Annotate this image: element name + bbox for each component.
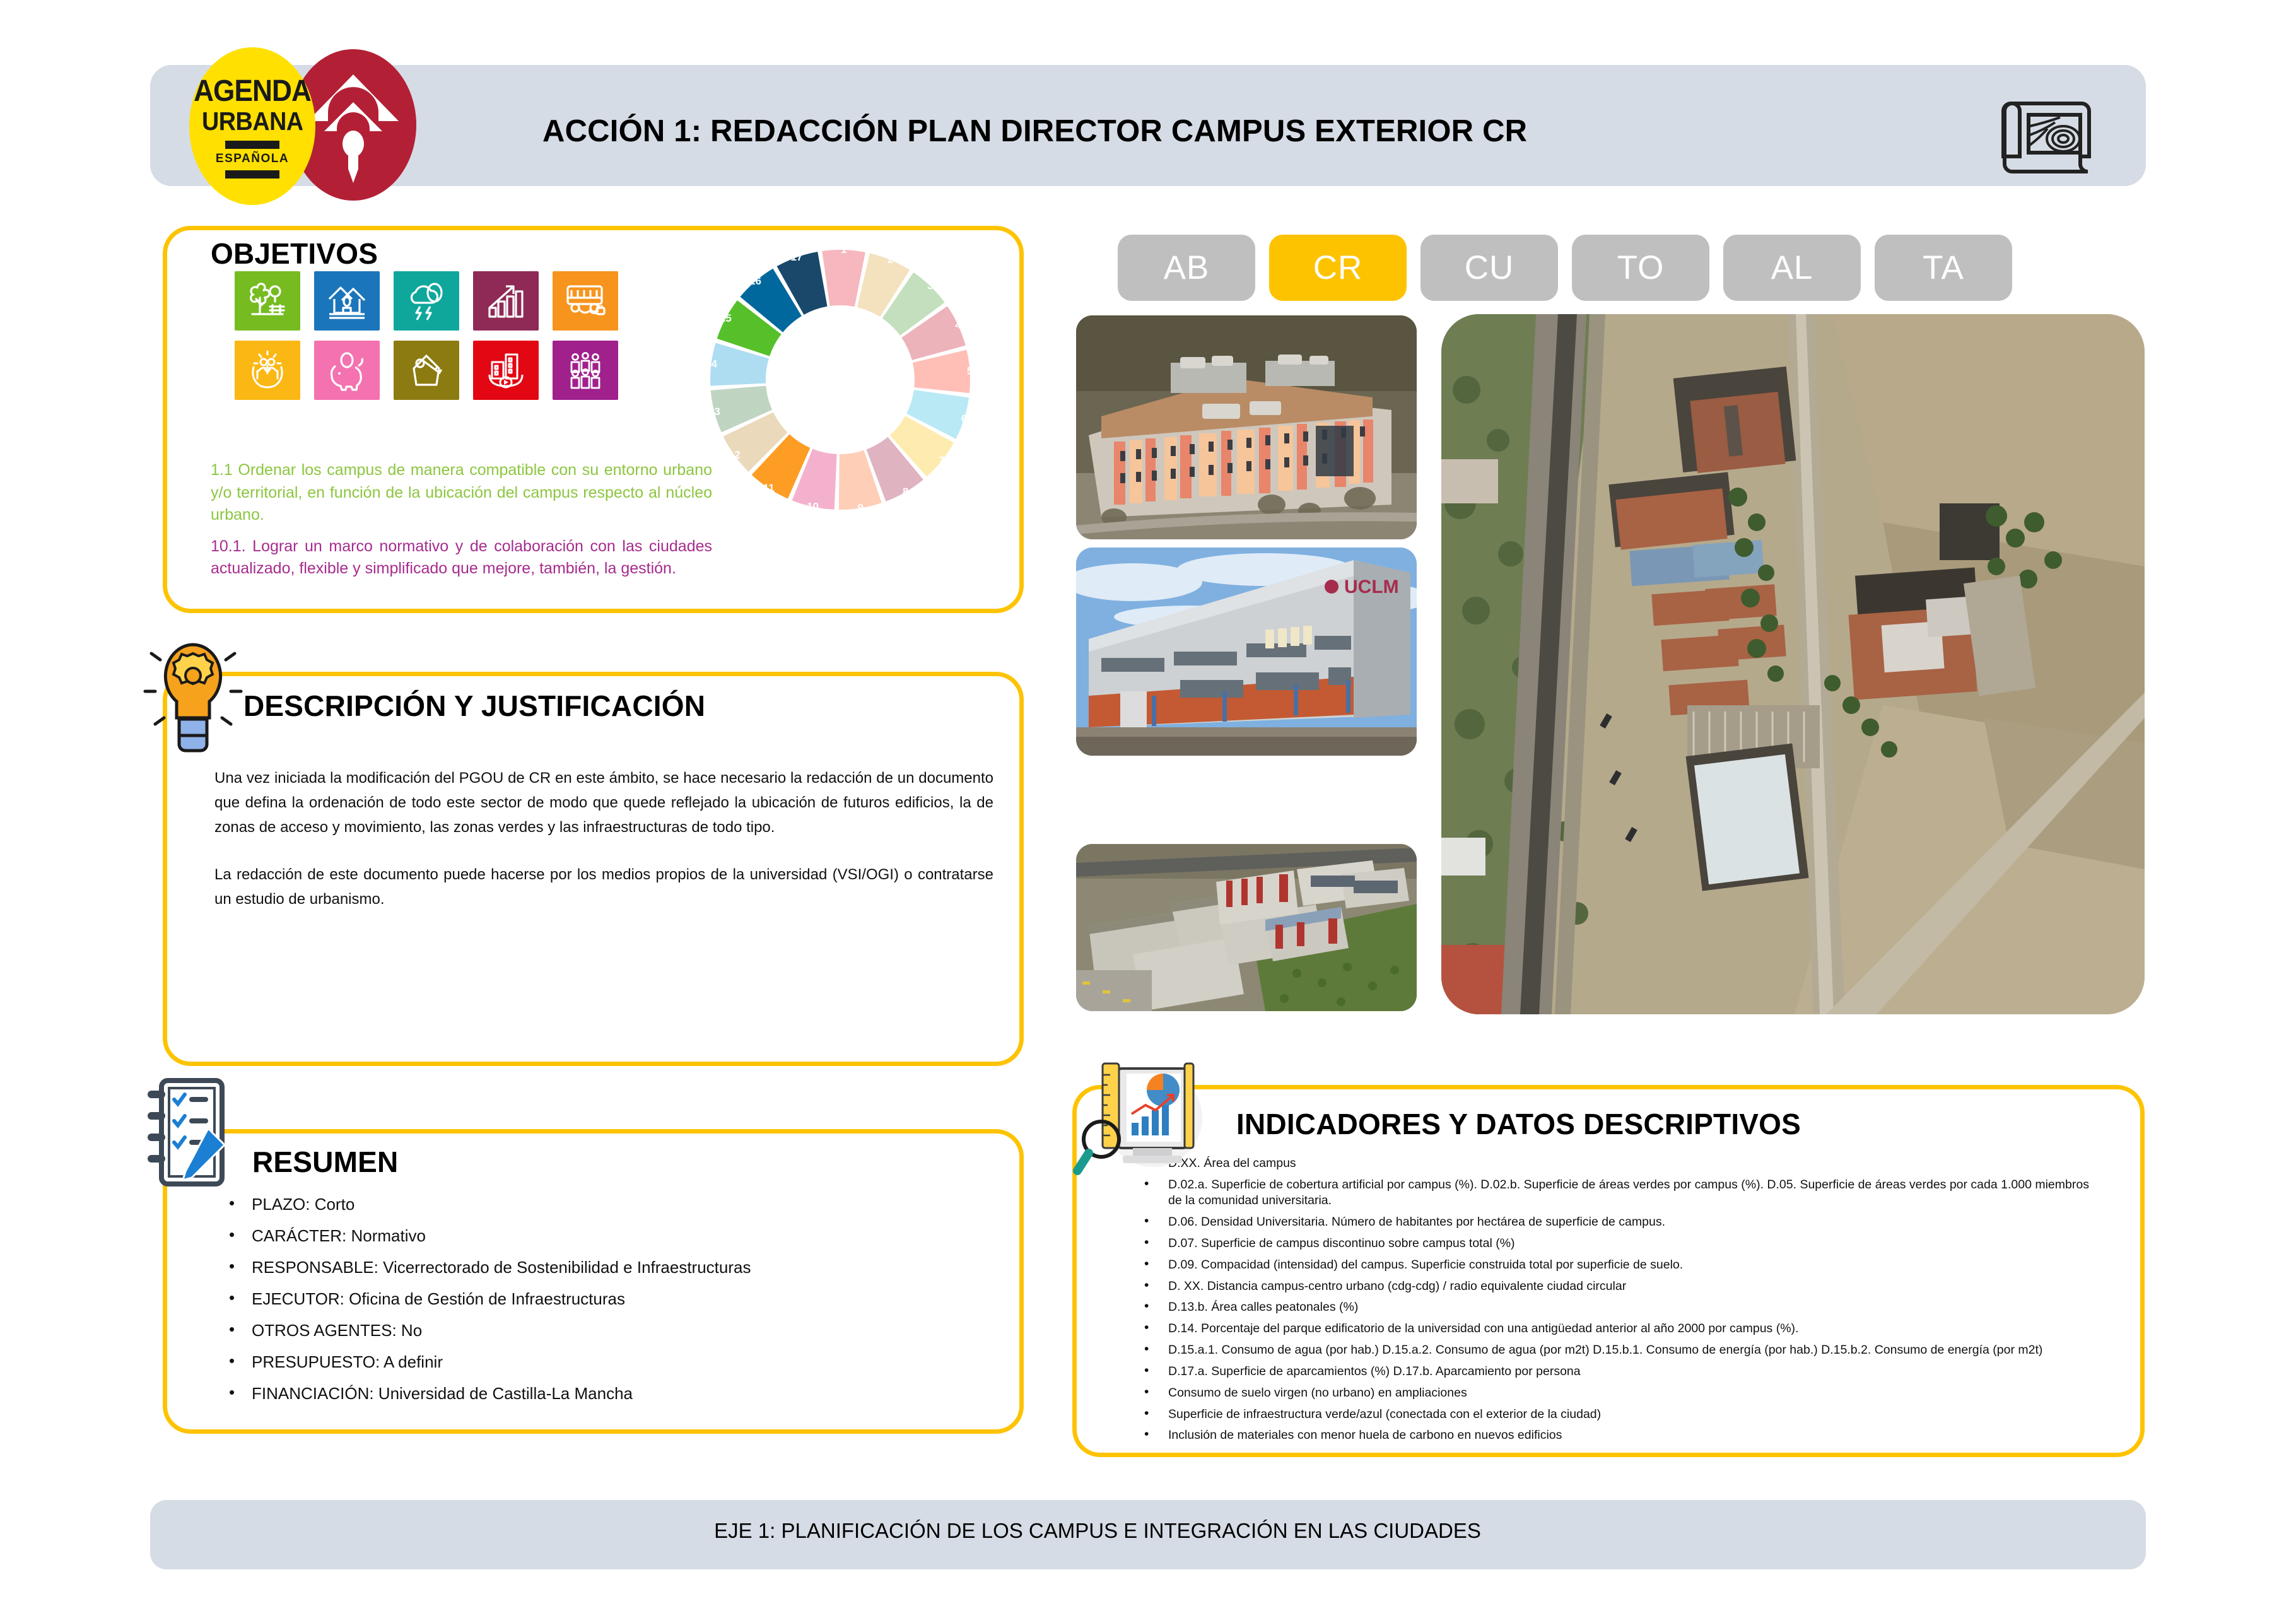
resumen-item: PRESUPUESTO: A definir — [224, 1354, 981, 1370]
resumen-list: PLAZO: CortoCARÁCTER: NormativoRESPONSAB… — [224, 1196, 981, 1417]
house-key-icon — [394, 341, 459, 400]
resumen-item: OTROS AGENTES: No — [224, 1322, 981, 1339]
sdg-number-9: 9 — [857, 501, 863, 513]
sdg-number-12: 12 — [729, 449, 741, 461]
rocket-waves-icon — [304, 63, 402, 187]
notepad-checklist-pencil-icon — [144, 1075, 232, 1189]
photo-aerial-campus-buildings — [1076, 844, 1417, 1011]
monitor-charts-ruler-magnifier-icon — [1072, 1060, 1224, 1186]
indicador-item: D.09. Compacidad (intensidad) del campus… — [1135, 1257, 2100, 1273]
descripcion-paragraph-1: Una vez iniciada la modificación del PGO… — [214, 766, 993, 840]
sdg-number-11: 11 — [763, 482, 775, 494]
sdg-number-15: 15 — [720, 312, 732, 324]
sdg-number-7: 7 — [939, 455, 944, 467]
logo-line-urbana: URBANA — [202, 107, 303, 136]
tab-cr[interactable]: CR — [1269, 235, 1407, 301]
sdg-segment-1 — [822, 250, 865, 307]
growth-chart-icon — [473, 271, 539, 331]
indicador-item: D.17.a. Superficie de aparcamientos (%) … — [1135, 1364, 2100, 1380]
lightbulb-gear-icon — [140, 631, 246, 765]
objetivo-goal-2: 10.1. Lograr un marco normativo y de col… — [211, 536, 712, 580]
objetivo-goal-1: 1.1 Ordenar los campus de manera compati… — [211, 459, 712, 527]
agenda-urbana-logo: AGENDA URBANA ESPAÑOLA — [189, 47, 315, 205]
sdg-number-1: 1 — [841, 245, 846, 255]
descripcion-heading: DESCRIPCIÓN Y JUSTIFICACIÓN — [243, 689, 705, 723]
tab-ab[interactable]: AB — [1118, 235, 1255, 301]
logo-line-espanola: ESPAÑOLA — [216, 152, 289, 166]
logo-bar-top — [225, 141, 279, 149]
footer-eje-text: EJE 1: PLANIFICACIÓN DE LOS CAMPUS E INT… — [0, 1519, 2296, 1543]
tab-to[interactable]: TO — [1572, 235, 1709, 301]
indicador-item: D.XX. Área del campus — [1135, 1156, 2100, 1171]
poster-page: AGENDA URBANA ESPAÑOLA ACCIÓN 1: REDACCI… — [0, 0, 2296, 1623]
resumen-item: EJECUTOR: Oficina de Gestión de Infraest… — [224, 1291, 981, 1307]
indicador-item: D.15.a.1. Consumo de agua (por hab.) D.1… — [1135, 1342, 2100, 1358]
photo-uclm-warehouse-building: UCLM — [1076, 548, 1417, 756]
photo-aerial-faculty-building — [1076, 315, 1417, 539]
resumen-item: PLAZO: Corto — [224, 1196, 981, 1212]
storm-cloud-icon — [394, 271, 459, 331]
page-title: ACCIÓN 1: REDACCIÓN PLAN DIRECTOR CAMPUS… — [542, 114, 1527, 149]
sdg-number-3: 3 — [927, 280, 933, 292]
photo-satellite-campus-map — [1441, 314, 2145, 1014]
objetivos-icon-grid — [235, 271, 618, 400]
tab-ta[interactable]: TA — [1875, 235, 2012, 301]
people-group-icon — [553, 341, 618, 400]
indicador-item: D. XX. Distancia campus-centro urbano (c… — [1135, 1279, 2100, 1294]
indicador-item: D.06. Densidad Universitaria. Número de … — [1135, 1214, 2100, 1230]
indicador-item: D.07. Superficie de campus discontinuo s… — [1135, 1236, 2100, 1251]
sdg-number-4: 4 — [955, 319, 961, 331]
resumen-item: CARÁCTER: Normativo — [224, 1228, 981, 1244]
indicadores-list: D.XX. Área del campusD.02.a. Superficie … — [1135, 1156, 2100, 1449]
indicadores-heading: INDICADORES Y DATOS DESCRIPTIVOS — [1236, 1107, 1801, 1141]
park-trees-icon — [235, 271, 300, 331]
indicador-item: D.02.a. Superficie de cobertura artifici… — [1135, 1177, 2100, 1209]
piggy-bank-icon — [314, 341, 380, 400]
logo-bar-bottom — [225, 170, 279, 179]
blueprint-map-icon — [2000, 95, 2107, 183]
sdg-number-6: 6 — [961, 413, 967, 425]
resumen-item: RESPONSABLE: Vicerrectorado de Sostenibi… — [224, 1259, 981, 1275]
electric-bus-icon — [553, 271, 618, 331]
sdg-number-17: 17 — [790, 251, 802, 263]
indicador-item: Inclusión de materiales con menor huela … — [1135, 1427, 2100, 1443]
tab-al[interactable]: AL — [1723, 235, 1861, 301]
indicador-item: D.14. Porcentaje del parque edificatorio… — [1135, 1321, 2100, 1337]
sdg-number-16: 16 — [749, 275, 761, 287]
svg-text:UCLM: UCLM — [1344, 577, 1399, 597]
descripcion-body: Una vez iniciada la modificación del PGO… — [214, 766, 993, 911]
indicador-item: Superficie de infraestructura verde/azul… — [1135, 1407, 2100, 1422]
sdg-number-5: 5 — [967, 365, 973, 377]
sdg-number-10: 10 — [807, 500, 819, 512]
resumen-heading: RESUMEN — [252, 1145, 398, 1179]
sdg-number-14: 14 — [705, 358, 717, 370]
indicador-item: D.13.b. Área calles peatonales (%) — [1135, 1299, 2100, 1315]
descripcion-paragraph-2: La redacción de este documento puede hac… — [214, 863, 993, 912]
tab-cu[interactable]: CU — [1420, 235, 1558, 301]
city-buildings-icon — [473, 341, 539, 400]
objetivos-text: 1.1 Ordenar los campus de manera compati… — [211, 459, 712, 580]
sdg-wheel-icon: 1234567891011121314151617 — [705, 245, 975, 515]
sdg-number-2: 2 — [887, 254, 893, 266]
campus-tabs: ABCRCUTOALTA — [1118, 235, 2012, 301]
sdg-number-8: 8 — [903, 486, 908, 498]
sdg-number-13: 13 — [708, 406, 720, 418]
indicador-item: Consumo de suelo virgen (no urbano) en a… — [1135, 1385, 2100, 1401]
objetivos-heading: OBJETIVOS — [211, 237, 378, 271]
hands-people-icon — [235, 341, 300, 400]
logo-line-agenda: AGENDA — [194, 74, 311, 108]
resumen-item: FINANCIACIÓN: Universidad de Castilla-La… — [224, 1385, 981, 1402]
house-buildings-icon — [314, 271, 380, 331]
